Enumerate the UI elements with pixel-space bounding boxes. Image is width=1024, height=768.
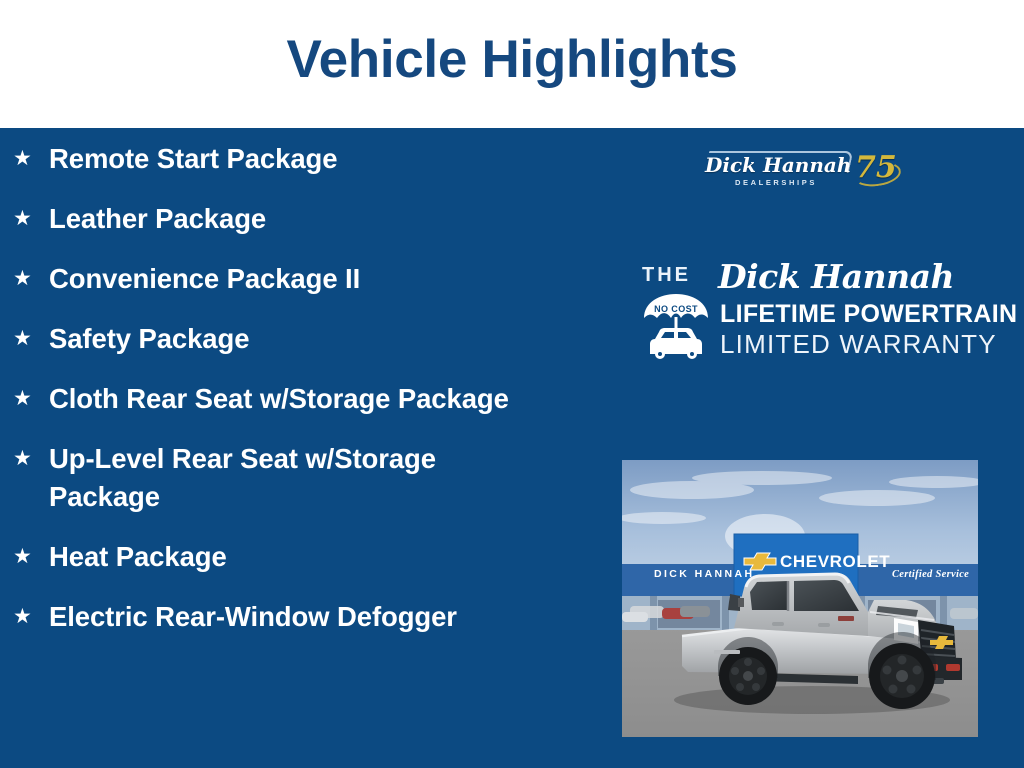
vehicle-photo: CHEVROLET DICK HANNAH Certified Service bbox=[622, 460, 978, 737]
list-item: ★ Remote Start Package bbox=[0, 140, 575, 178]
list-item: ★ Electric Rear-Window Defogger bbox=[0, 598, 575, 636]
anniversary-75-mark: 75 bbox=[855, 150, 897, 186]
star-bullet-icon: ★ bbox=[13, 440, 49, 478]
photo-brand-sign: CHEVROLET bbox=[780, 552, 890, 571]
list-item-label: Electric Rear-Window Defogger bbox=[49, 598, 575, 636]
star-bullet-icon: ★ bbox=[13, 260, 49, 298]
list-item-label: Convenience Package II bbox=[49, 260, 575, 298]
list-item-label: Leather Package bbox=[49, 200, 575, 238]
warranty-line-1: LIFETIME POWERTRAIN bbox=[720, 300, 1017, 329]
list-item-label: Remote Start Package bbox=[49, 140, 575, 178]
star-bullet-icon: ★ bbox=[13, 538, 49, 576]
vehicle-highlights-list: ★ Remote Start Package ★ Leather Package… bbox=[0, 140, 575, 658]
list-item: ★ Safety Package bbox=[0, 320, 575, 358]
svg-text:NO COST: NO COST bbox=[654, 304, 698, 314]
warranty-script-text: Dick Hannah bbox=[718, 258, 954, 296]
list-item: ★ Up-Level Rear Seat w/Storage Package bbox=[0, 440, 575, 516]
warranty-the-label: THE bbox=[642, 264, 691, 287]
star-bullet-icon: ★ bbox=[13, 200, 49, 238]
list-item: ★ Convenience Package II bbox=[0, 260, 575, 298]
list-item-label: Up-Level Rear Seat w/Storage Package bbox=[49, 440, 575, 516]
lifetime-powertrain-warranty-badge: THE NO COST Dick Hannah bbox=[638, 258, 978, 366]
list-item: ★ Cloth Rear Seat w/Storage Package bbox=[0, 380, 575, 418]
star-bullet-icon: ★ bbox=[13, 140, 49, 178]
photo-dealer-sign: DICK HANNAH bbox=[654, 568, 754, 580]
warranty-line-2: LIMITED WARRANTY bbox=[720, 329, 997, 360]
list-item-label: Safety Package bbox=[49, 320, 575, 358]
slide-header: Vehicle Highlights bbox=[0, 0, 1024, 128]
star-bullet-icon: ★ bbox=[13, 320, 49, 358]
list-item: ★ Leather Package bbox=[0, 200, 575, 238]
logo-subtitle: DEALERSHIPS bbox=[735, 178, 817, 187]
umbrella-over-car-icon: NO COST bbox=[640, 292, 712, 360]
dick-hannah-dealerships-logo: Dick Hannah DEALERSHIPS 75 bbox=[705, 150, 920, 198]
star-bullet-icon: ★ bbox=[13, 598, 49, 636]
list-item: ★ Heat Package bbox=[0, 538, 575, 576]
page-title: Vehicle Highlights bbox=[0, 29, 1024, 90]
presentation-slide: Vehicle Highlights ★ Remote Start Packag… bbox=[0, 0, 1024, 768]
list-item-label: Heat Package bbox=[49, 538, 575, 576]
star-bullet-icon: ★ bbox=[13, 380, 49, 418]
photo-service-sign: Certified Service bbox=[892, 569, 969, 580]
list-item-label: Cloth Rear Seat w/Storage Package bbox=[49, 380, 575, 418]
